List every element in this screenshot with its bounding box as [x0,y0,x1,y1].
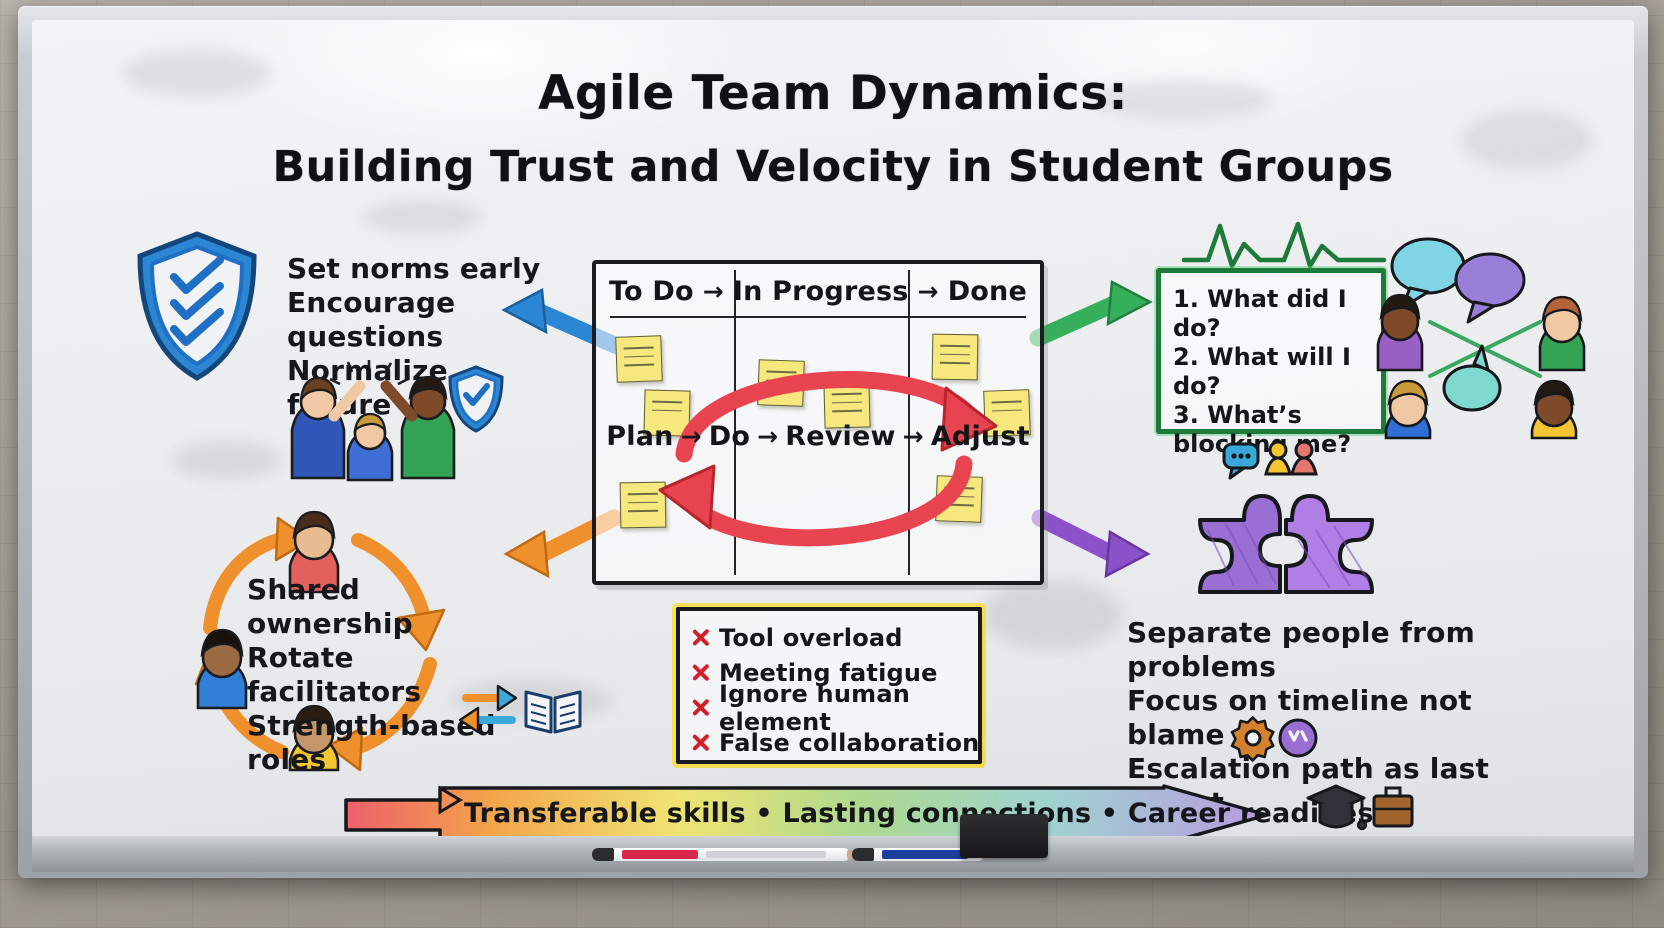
psych-safety-line-2: Encourage questions [287,286,547,354]
kanban-column-done: Done [948,276,1027,307]
kanban-column-headers: To Do → In Progress → Done [596,276,1040,307]
red-x-icon [690,697,711,718]
red-marker[interactable] [592,848,712,861]
cycle-step-adjust: Adjust [931,421,1030,452]
marker-band [882,850,968,859]
ownership-notes: Shared ownership Rotate facilitators Str… [247,573,517,777]
antipattern-label: Ignore human element [719,680,980,736]
standup-question-3: 3. What’s [1173,401,1381,430]
antipattern-item: Tool overload [690,620,980,655]
antipattern-item: False collaboration [690,725,980,760]
antipatterns-box: Tool overload Meeting fatigue Ignore hum… [676,607,982,764]
smudge [362,200,482,234]
gear-and-smiley-icons [1230,716,1322,766]
arrow-right-icon: → [681,422,702,451]
whiteboard-eraser[interactable] [960,814,1048,858]
heartbeat-line-icon [1180,216,1390,274]
conflict-line-2: Focus on timeline not blame [1127,684,1527,752]
standup-question-1: 1. What did I do? [1173,285,1381,343]
kanban-column-inprogress: In Progress [733,276,909,307]
ownership-line-1: Shared ownership [247,573,517,641]
marker-band [622,850,698,859]
outcomes-banner: Transferable skills • Lasting connection… [344,784,1269,838]
connector-to-conflict [1032,510,1152,585]
kanban-header-rule [610,316,1026,318]
outcomes-banner-text: Transferable skills • Lasting connection… [464,798,1224,829]
standup-questions-box: 1. What did I do? 2. What will I do? 3. … [1156,268,1386,434]
page-title-line1: Agile Team Dynamics: [32,66,1634,121]
two-puzzle-pieces-icon [1182,480,1392,598]
cycle-step-do: Do [709,421,750,452]
chat-and-people-icons [1222,438,1332,478]
page-title-line2: Building Trust and Velocity in Student G… [32,142,1634,192]
cycle-step-plan: Plan [606,421,673,452]
standup-question-2: 2. What will I do? [1173,343,1381,401]
arrow-right-icon: → [903,422,924,451]
open-book-icon [522,682,584,736]
antipattern-label: False collaboration [719,729,979,757]
red-x-icon [690,662,711,683]
briefcase-icon [1374,788,1412,826]
whiteboard-frame: Agile Team Dynamics: Building Trust and … [18,6,1648,878]
cycle-step-review: Review [785,421,895,452]
kanban-board[interactable]: To Do → In Progress → Done [592,260,1044,585]
high-five-people-icon [274,360,464,480]
psych-safety-line-1: Set norms early [287,252,547,286]
gear-icon [1232,717,1273,760]
marker-band [706,851,826,858]
marker-cap [592,848,614,861]
shield-check-icon [132,230,262,382]
marker-tray [32,836,1634,872]
arrow-right-icon: → [918,277,939,306]
whiteboard-surface: Agile Team Dynamics: Building Trust and … [32,20,1634,838]
antipattern-item: Ignore human element [690,690,980,725]
graduation-cap-icon [1308,786,1366,829]
marker-cap [852,848,874,861]
standup-question-list: 1. What did I do? 2. What will I do? 3. … [1173,285,1381,459]
red-x-icon [690,627,711,648]
conflict-line-1: Separate people from problems [1127,616,1527,684]
kanban-column-todo: To Do [609,276,694,307]
arrow-right-icon: → [703,277,724,306]
four-people-talking-icon [1372,226,1592,436]
white-marker[interactable] [700,848,850,861]
smudge [982,580,1122,650]
red-x-icon [690,732,711,753]
antipattern-label: Tool overload [719,624,903,652]
purple-smiley-icon [1280,720,1316,756]
kanban-cycle-labels: Plan → Do → Review → Adjust [596,421,1040,452]
smudge [172,440,282,480]
arrow-right-icon: → [757,422,778,451]
graduation-and-briefcase-icons [1304,776,1414,838]
antipatterns-list: Tool overload Meeting fatigue Ignore hum… [690,620,980,760]
connector-to-standup [1032,282,1152,352]
